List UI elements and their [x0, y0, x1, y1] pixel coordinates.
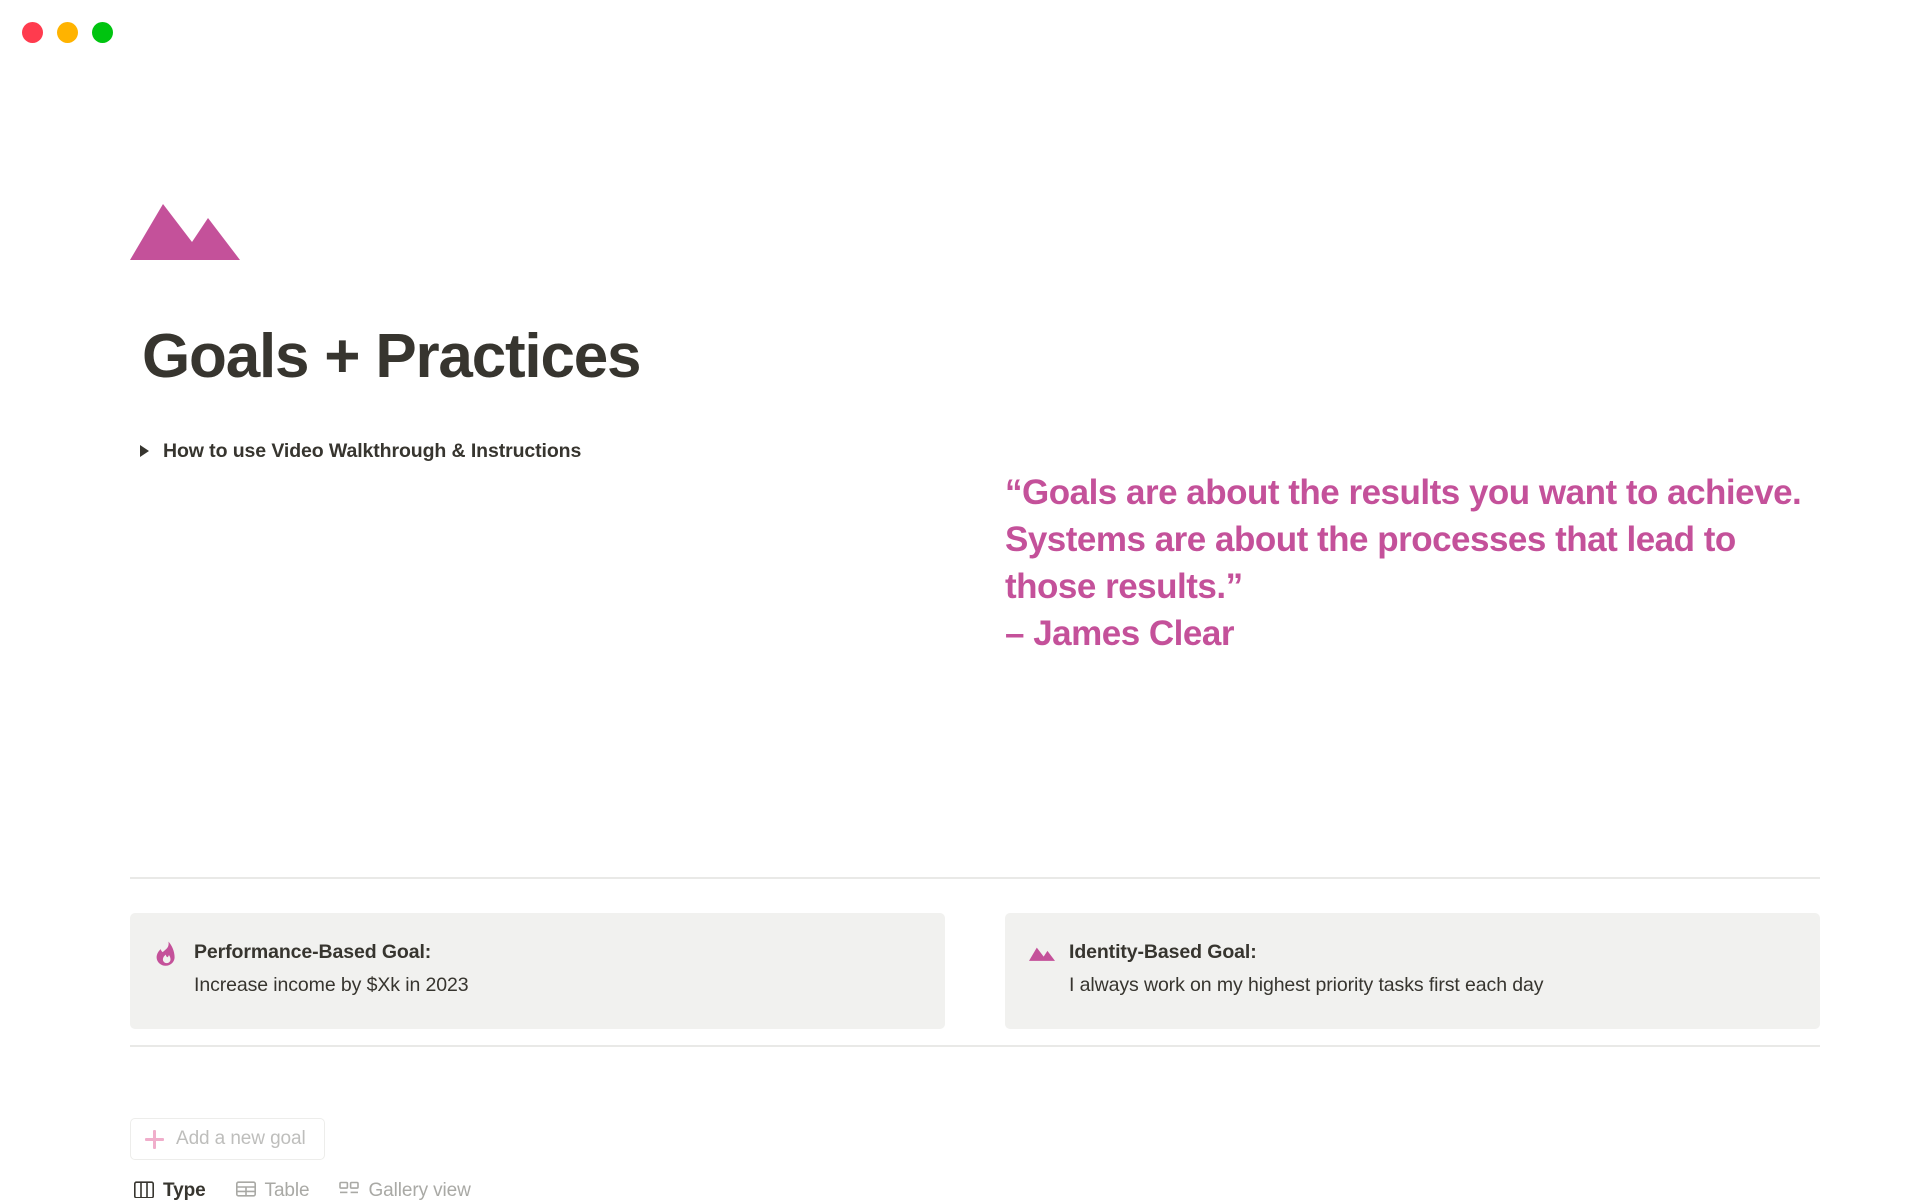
- callout-title: Performance-Based Goal:: [194, 939, 469, 965]
- toggle-label: How to use Video Walkthrough & Instructi…: [163, 440, 581, 463]
- callout-identity-based-goal: Identity-Based Goal: I always work on my…: [1005, 913, 1820, 1029]
- callout-text: I always work on my highest priority tas…: [1069, 972, 1543, 998]
- view-tab-label: Gallery view: [368, 1180, 470, 1200]
- view-tab-gallery[interactable]: Gallery view: [339, 1180, 470, 1200]
- callout-performance-based-goal: Performance-Based Goal: Increase income …: [130, 913, 945, 1029]
- view-tab-type[interactable]: Type: [134, 1180, 206, 1200]
- plus-icon: [145, 1130, 164, 1149]
- callouts-row: Performance-Based Goal: Increase income …: [130, 913, 1820, 1029]
- window-titlebar: [0, 0, 1920, 62]
- add-new-goal-label: Add a new goal: [176, 1128, 306, 1150]
- callout-body: Identity-Based Goal: I always work on my…: [1069, 939, 1543, 999]
- callout-body: Performance-Based Goal: Increase income …: [194, 939, 469, 999]
- page-title: Goals + Practices: [142, 326, 640, 388]
- callout-title: Identity-Based Goal:: [1069, 939, 1543, 965]
- view-tab-label: Type: [163, 1180, 206, 1200]
- close-window-button[interactable]: [22, 22, 43, 43]
- mountains-icon: [1029, 940, 1055, 966]
- table-icon: [236, 1180, 256, 1200]
- mountains-icon: [130, 198, 240, 260]
- view-tab-table[interactable]: Table: [236, 1180, 310, 1200]
- quote-text: “Goals are about the results you want to…: [1005, 473, 1801, 606]
- toggle-video-walkthrough[interactable]: How to use Video Walkthrough & Instructi…: [140, 437, 581, 465]
- quote-block: “Goals are about the results you want to…: [1005, 470, 1805, 658]
- traffic-lights: [22, 22, 113, 43]
- quote-author: – James Clear: [1005, 611, 1805, 658]
- add-new-goal-button[interactable]: Add a new goal: [130, 1118, 325, 1160]
- database-view-bar: Type Table: [134, 1176, 471, 1200]
- gallery-icon: [339, 1180, 359, 1200]
- view-tab-label: Table: [265, 1180, 310, 1200]
- callout-text: Increase income by $Xk in 2023: [194, 972, 469, 998]
- triangle-right-icon[interactable]: [140, 445, 149, 457]
- board-icon: [134, 1180, 154, 1200]
- maximize-window-button[interactable]: [92, 22, 113, 43]
- minimize-window-button[interactable]: [57, 22, 78, 43]
- flame-icon: [154, 940, 180, 966]
- divider-below-callouts: [130, 1045, 1820, 1047]
- app-window: Goals + Practices How to use Video Walkt…: [0, 0, 1920, 1200]
- divider-above-callouts: [130, 877, 1820, 879]
